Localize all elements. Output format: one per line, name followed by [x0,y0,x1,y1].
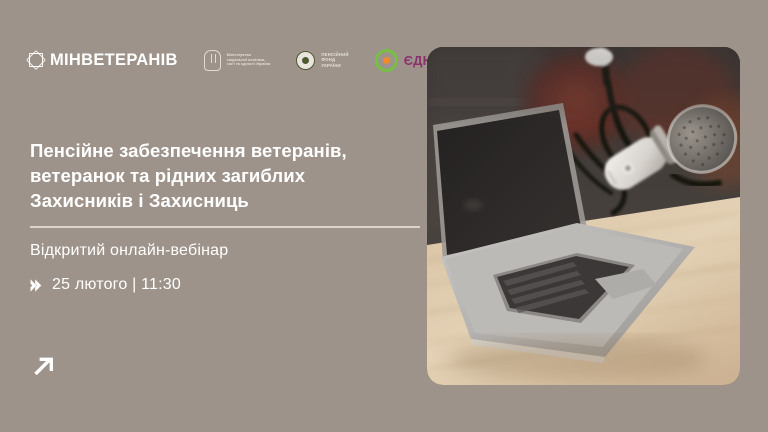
event-type-label: Відкритий онлайн-вебінар [30,240,228,262]
promo-banner: МІНВЕТЕРАНІВ Міністерство соціальної пол… [0,0,768,432]
partner-logo-bar: МІНВЕТЕРАНІВ Міністерство соціальної пол… [28,46,471,74]
podcast-setup-photo-illustration [427,47,740,385]
ministry-of-veterans-emblem-icon [28,52,44,68]
logo-ministry-social-policy-label: Міністерство соціальної політики, сім'ї … [227,53,271,67]
logo-minveteraniv: МІНВЕТЕРАНІВ [28,47,178,73]
pension-fund-emblem-icon [296,51,315,70]
podcast-setup-photo [427,47,740,385]
arrow-up-right-icon [30,352,60,382]
double-chevron-right-icon [30,278,43,293]
ednannia-circle-icon [375,49,398,72]
logo-pension-fund-label: ПЕНСІЙНИЙ ФОНД УКРАЇНИ [321,52,348,68]
page-title: Пенсійне забезпечення ветеранів, ветеран… [30,138,420,213]
trident-shield-icon [204,50,221,71]
event-datetime: 25 лютого | 11:30 [30,275,181,295]
event-datetime-label: 25 лютого | 11:30 [52,275,181,295]
logo-ministry-social-policy: Міністерство соціальної політики, сім'ї … [204,47,271,73]
divider [30,226,420,228]
logo-minveteraniv-label: МІНВЕТЕРАНІВ [50,52,178,69]
logo-pension-fund: ПЕНСІЙНИЙ ФОНД УКРАЇНИ [296,47,348,73]
